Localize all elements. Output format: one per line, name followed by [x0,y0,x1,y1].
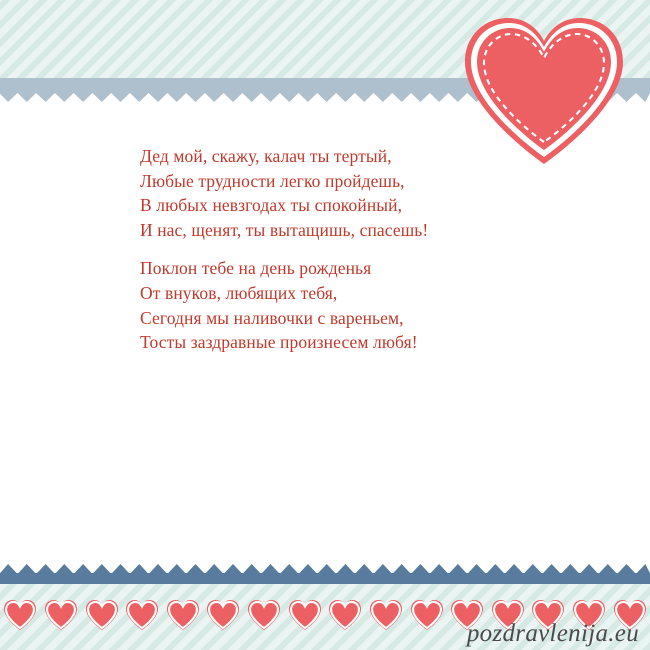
poem-text: Дед мой, скажу, калач ты тертый, Любые т… [140,144,570,369]
poem-line: Дед мой, скажу, калач ты тертый, [140,144,570,169]
poem-line: От внуков, любящих тебя, [140,281,570,306]
poem-line: Сегодня мы наливочки с вареньем, [140,306,570,331]
poem-line: В любых невзгодах ты спокойный, [140,193,570,218]
poem-stanza-1: Дед мой, скажу, калач ты тертый, Любые т… [140,144,570,242]
bottom-rule-band [0,573,650,584]
poem-line: Поклон тебе на день рожденья [140,256,570,281]
poem-line: Тосты заздравные произнесем любя! [140,330,570,355]
poem-stanza-2: Поклон тебе на день рожденья От внуков, … [140,256,570,354]
watermark-label: pozdravlenija.eu [467,620,639,648]
poem-line: Любые трудности легко пройдешь, [140,169,570,194]
poem-line: И нас, щенят, ты вытащишь, спасешь! [140,218,570,243]
greeting-card: Дед мой, скажу, калач ты тертый, Любые т… [0,0,650,650]
